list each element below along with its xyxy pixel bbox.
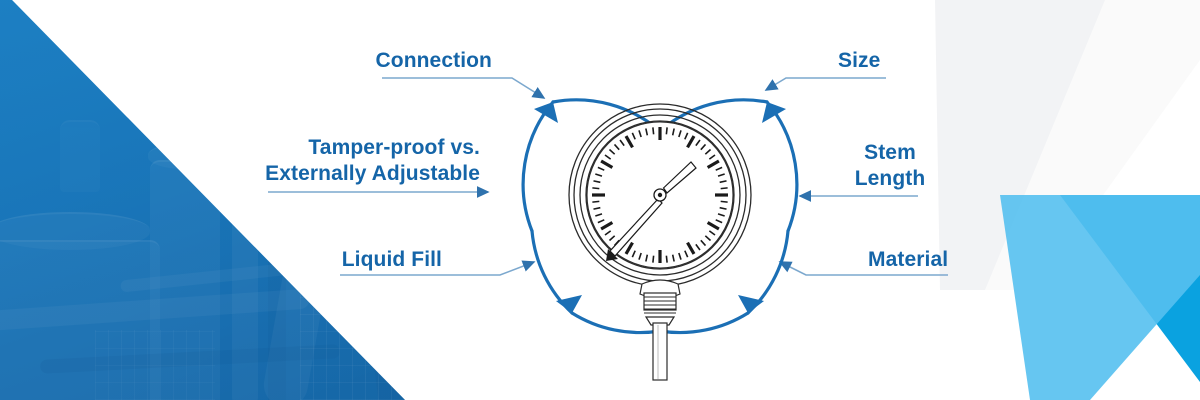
arrowhead-top-right <box>762 102 786 123</box>
gauge-graphic <box>520 35 800 390</box>
tick-minor <box>721 188 728 189</box>
arc-top-right <box>767 102 797 231</box>
cyan-triangle-light <box>1000 195 1200 400</box>
label-tamper-proof-line2: Externally Adjustable <box>200 161 480 187</box>
cyan-triangle-dark <box>1060 195 1200 382</box>
label-stem-length-line2: Length <box>820 166 960 192</box>
arc-bottom-left-b <box>572 313 660 333</box>
gauge-stem <box>653 323 667 380</box>
label-tamper-proof-line1: Tamper-proof vs. <box>200 135 480 161</box>
label-size[interactable]: Size <box>838 48 998 73</box>
label-connection[interactable]: Connection <box>240 48 492 73</box>
label-material[interactable]: Material <box>868 247 1028 272</box>
infographic-canvas: Connection Tamper-proof vs. Externally A… <box>0 0 1200 400</box>
tick-minor <box>653 127 654 134</box>
label-liquid-fill[interactable]: Liquid Fill <box>230 247 442 272</box>
tick-minor <box>721 201 728 202</box>
arc-top-left <box>523 102 553 231</box>
tick-minor <box>666 256 667 263</box>
label-tamper-proof[interactable]: Tamper-proof vs. Externally Adjustable <box>200 135 480 187</box>
fitting-threads-body <box>644 293 676 310</box>
arc-bottom-right-b <box>660 313 748 333</box>
tick-minor <box>653 256 654 263</box>
tick-minor <box>666 127 667 134</box>
label-stem-length-line1: Stem <box>820 140 960 166</box>
tick-minor <box>592 188 599 189</box>
label-stem-length[interactable]: Stem Length <box>820 140 960 192</box>
tick-minor <box>592 201 599 202</box>
needle-hub-center <box>658 193 662 197</box>
gauge-svg <box>520 35 800 390</box>
gauge-connection-fitting <box>640 280 680 325</box>
arrowhead-top-left <box>534 102 558 123</box>
